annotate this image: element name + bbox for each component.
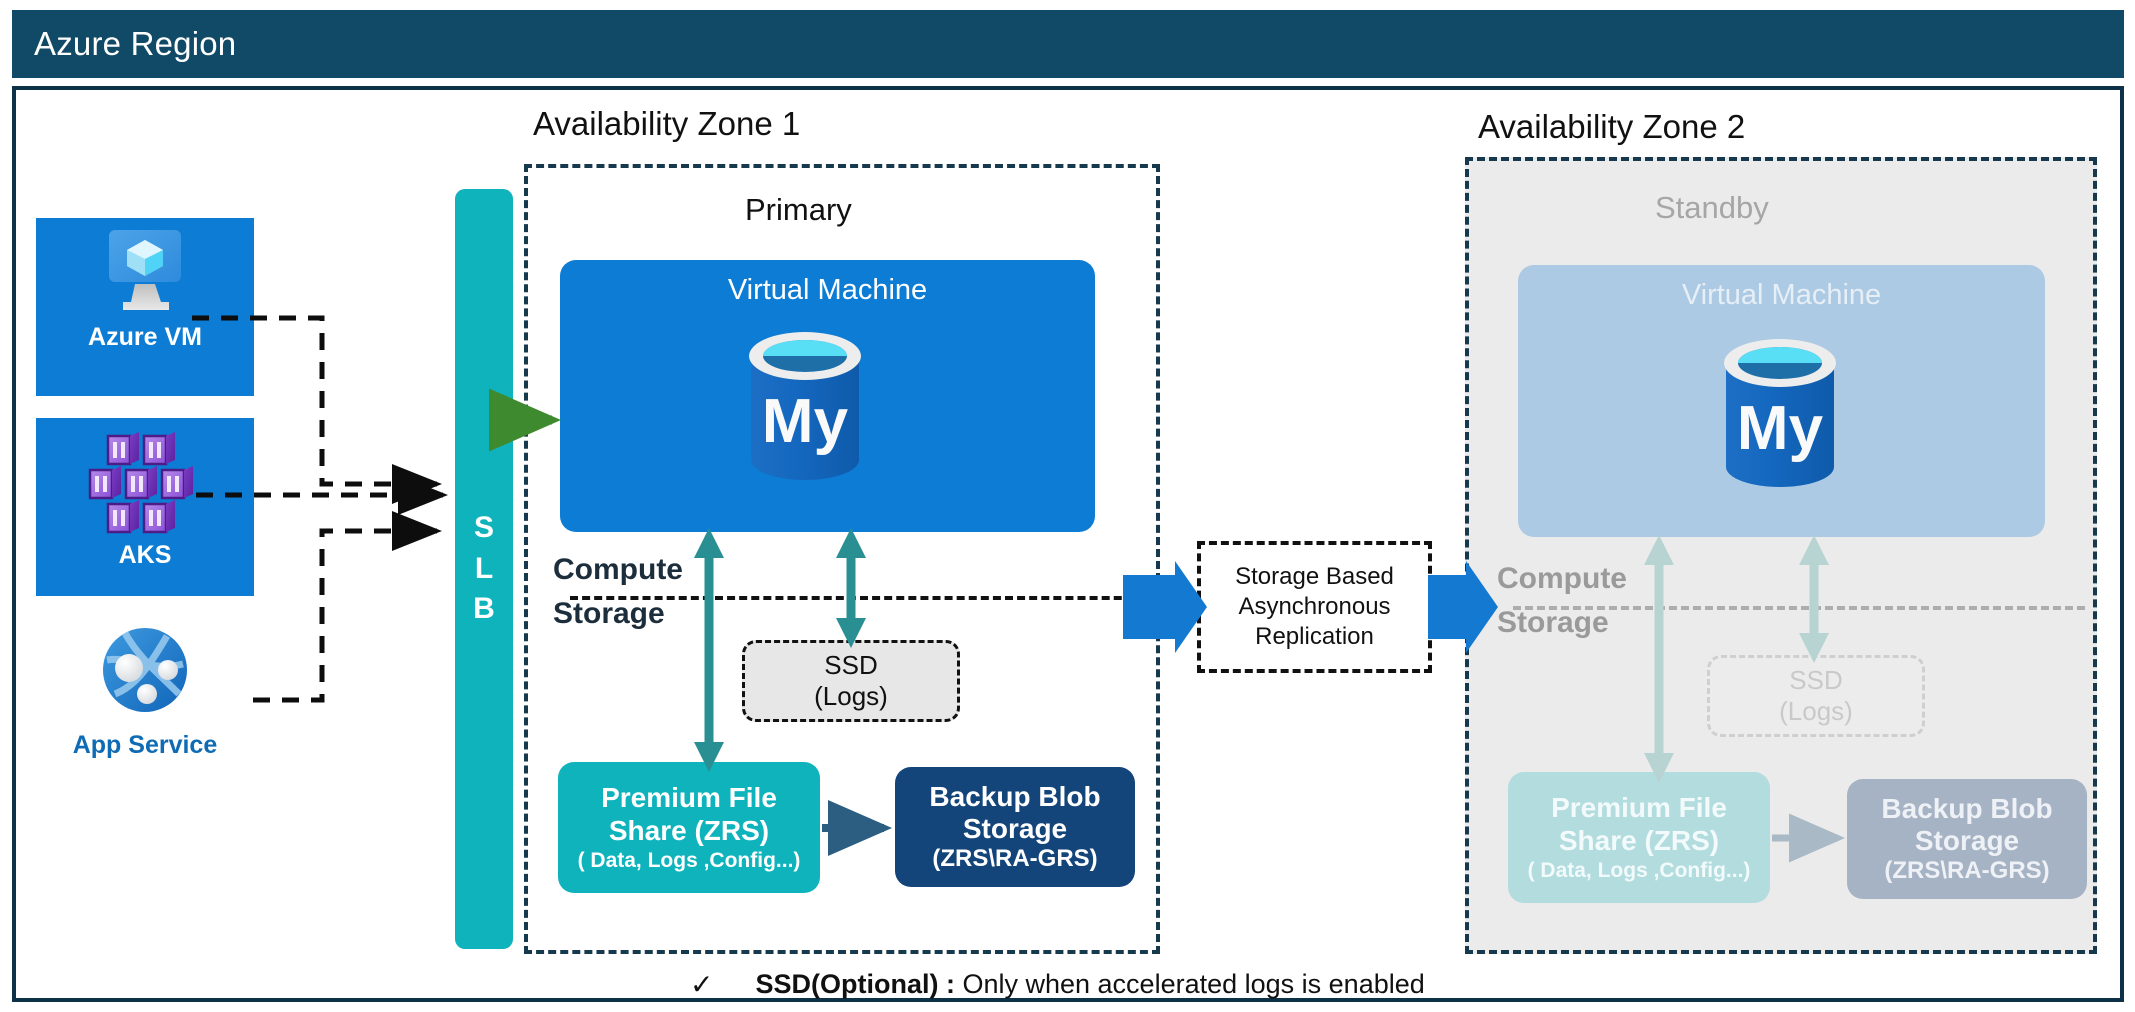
azure-vm-icon (97, 228, 193, 319)
storage-tier-label: Storage (553, 597, 683, 631)
service-tile-label: Azure VM (88, 323, 202, 352)
availability-zone-1-title: Availability Zone 1 (533, 105, 800, 143)
slb-letter-s: S (474, 508, 494, 549)
bbs-name-line1: Backup Blob (929, 781, 1100, 813)
storage-tier-label: Storage (1497, 606, 1627, 640)
tier-divider-zone2 (1513, 606, 2085, 610)
compute-tier-label: Compute (553, 553, 683, 587)
ssd-detail: (Logs) (1779, 696, 1853, 727)
aks-icon (86, 430, 204, 539)
tier-divider-zone1 (570, 596, 1158, 600)
replication-line1: Storage Based (1235, 562, 1394, 592)
service-tile-aks[interactable]: AKS (36, 418, 254, 596)
ssd-name: SSD (824, 650, 877, 681)
bbs-name-line2: Storage (1915, 825, 2019, 857)
pfs-name-line1: Premium File (1551, 792, 1727, 824)
ssd-detail: (Logs) (814, 681, 888, 712)
storage-replication-box: Storage Based Asynchronous Replication (1197, 541, 1432, 673)
app-service-icon (95, 620, 195, 725)
pfs-name-line2: Share (ZRS) (609, 815, 769, 847)
bbs-name-line2: Storage (963, 813, 1067, 845)
replication-line3: Replication (1235, 622, 1394, 652)
check-icon: ✓ (690, 968, 713, 1001)
slb-letter-l: L (475, 549, 493, 590)
bbs-name-line1: Backup Blob (1881, 793, 2052, 825)
virtual-machine-label: Virtual Machine (728, 274, 927, 307)
service-tile-azure-vm[interactable]: Azure VM (36, 218, 254, 396)
svg-text:My: My (762, 387, 849, 456)
footnote-bold: SSD(Optional) : (755, 969, 954, 999)
footnote-text: Only when accelerated logs is enabled (962, 969, 1424, 999)
premium-file-share-standby[interactable]: Premium File Share (ZRS) ( Data, Logs ,C… (1508, 772, 1770, 903)
tier-labels-zone1: Compute Storage (553, 553, 683, 630)
mysql-database-icon: My (735, 320, 875, 495)
backup-blob-storage-standby[interactable]: Backup Blob Storage (ZRS\RA-GRS) (1847, 779, 2087, 899)
azure-region-title: Azure Region (34, 25, 236, 63)
ssd-logs-standby[interactable]: SSD (Logs) (1707, 655, 1925, 737)
availability-zone-2-title: Availability Zone 2 (1478, 108, 1745, 146)
slb-letter-b: B (473, 589, 495, 630)
service-tile-label: App Service (73, 731, 218, 760)
standby-label: Standby (1655, 190, 1769, 226)
azure-region-header: Azure Region (12, 10, 2124, 78)
svg-text:My: My (1737, 394, 1824, 463)
tier-labels-zone2: Compute Storage (1497, 562, 1627, 639)
pfs-detail: ( Data, Logs ,Config...) (1528, 859, 1751, 883)
mysql-database-icon: My (1710, 327, 1850, 502)
ssd-name: SSD (1789, 665, 1842, 696)
pfs-detail: ( Data, Logs ,Config...) (578, 849, 801, 873)
compute-tier-label: Compute (1497, 562, 1627, 596)
virtual-machine-label: Virtual Machine (1682, 279, 1881, 312)
footnote: ✓ SSD(Optional) : Only when accelerated … (690, 962, 1510, 1006)
premium-file-share-primary[interactable]: Premium File Share (ZRS) ( Data, Logs ,C… (558, 762, 820, 893)
service-tile-label: AKS (119, 541, 172, 570)
standard-load-balancer[interactable]: S L B (455, 189, 513, 949)
ssd-logs-primary[interactable]: SSD (Logs) (742, 640, 960, 722)
bbs-detail: (ZRS\RA-GRS) (932, 845, 1097, 873)
service-tile-app-service[interactable]: App Service (36, 620, 254, 780)
bbs-detail: (ZRS\RA-GRS) (1884, 857, 2049, 885)
replication-line2: Asynchronous (1235, 592, 1394, 622)
diagram-canvas: Azure Region Availability Zone 1 Availab… (0, 0, 2135, 1012)
pfs-name-line1: Premium File (601, 782, 777, 814)
pfs-name-line2: Share (ZRS) (1559, 825, 1719, 857)
backup-blob-storage-primary[interactable]: Backup Blob Storage (ZRS\RA-GRS) (895, 767, 1135, 887)
primary-label: Primary (745, 192, 852, 228)
